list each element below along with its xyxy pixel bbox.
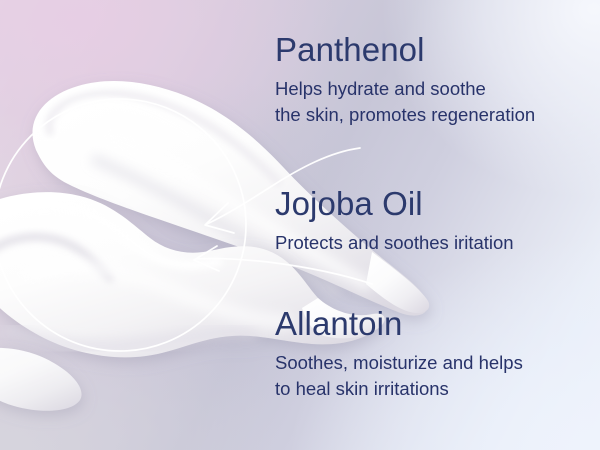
description-line: Helps hydrate and soothe — [275, 76, 535, 103]
ingredient-panthenol: Panthenol Helps hydrate and soothe the s… — [275, 32, 535, 129]
description-line: the skin, promotes regeneration — [275, 102, 535, 129]
ingredient-heading-allantoin: Allantoin — [275, 306, 523, 343]
description-line: Protects and soothes iritation — [275, 230, 514, 257]
ingredient-heading-panthenol: Panthenol — [275, 32, 535, 69]
ingredient-description-allantoin: Soothes, moisturize and helps to heal sk… — [275, 350, 523, 403]
infographic-canvas: Panthenol Helps hydrate and soothe the s… — [0, 0, 600, 450]
ingredient-description-panthenol: Helps hydrate and soothe the skin, promo… — [275, 76, 535, 129]
ingredient-allantoin: Allantoin Soothes, moisturize and helps … — [275, 306, 523, 403]
ingredient-jojoba-oil: Jojoba Oil Protects and soothes iritatio… — [275, 186, 514, 256]
ingredient-list: Panthenol Helps hydrate and soothe the s… — [275, 0, 595, 450]
ingredient-description-jojoba-oil: Protects and soothes iritation — [275, 230, 514, 257]
description-line: Soothes, moisturize and helps — [275, 350, 523, 377]
circle-outline — [0, 99, 246, 351]
ingredient-heading-jojoba-oil: Jojoba Oil — [275, 186, 514, 223]
description-line: to heal skin irritations — [275, 376, 523, 403]
